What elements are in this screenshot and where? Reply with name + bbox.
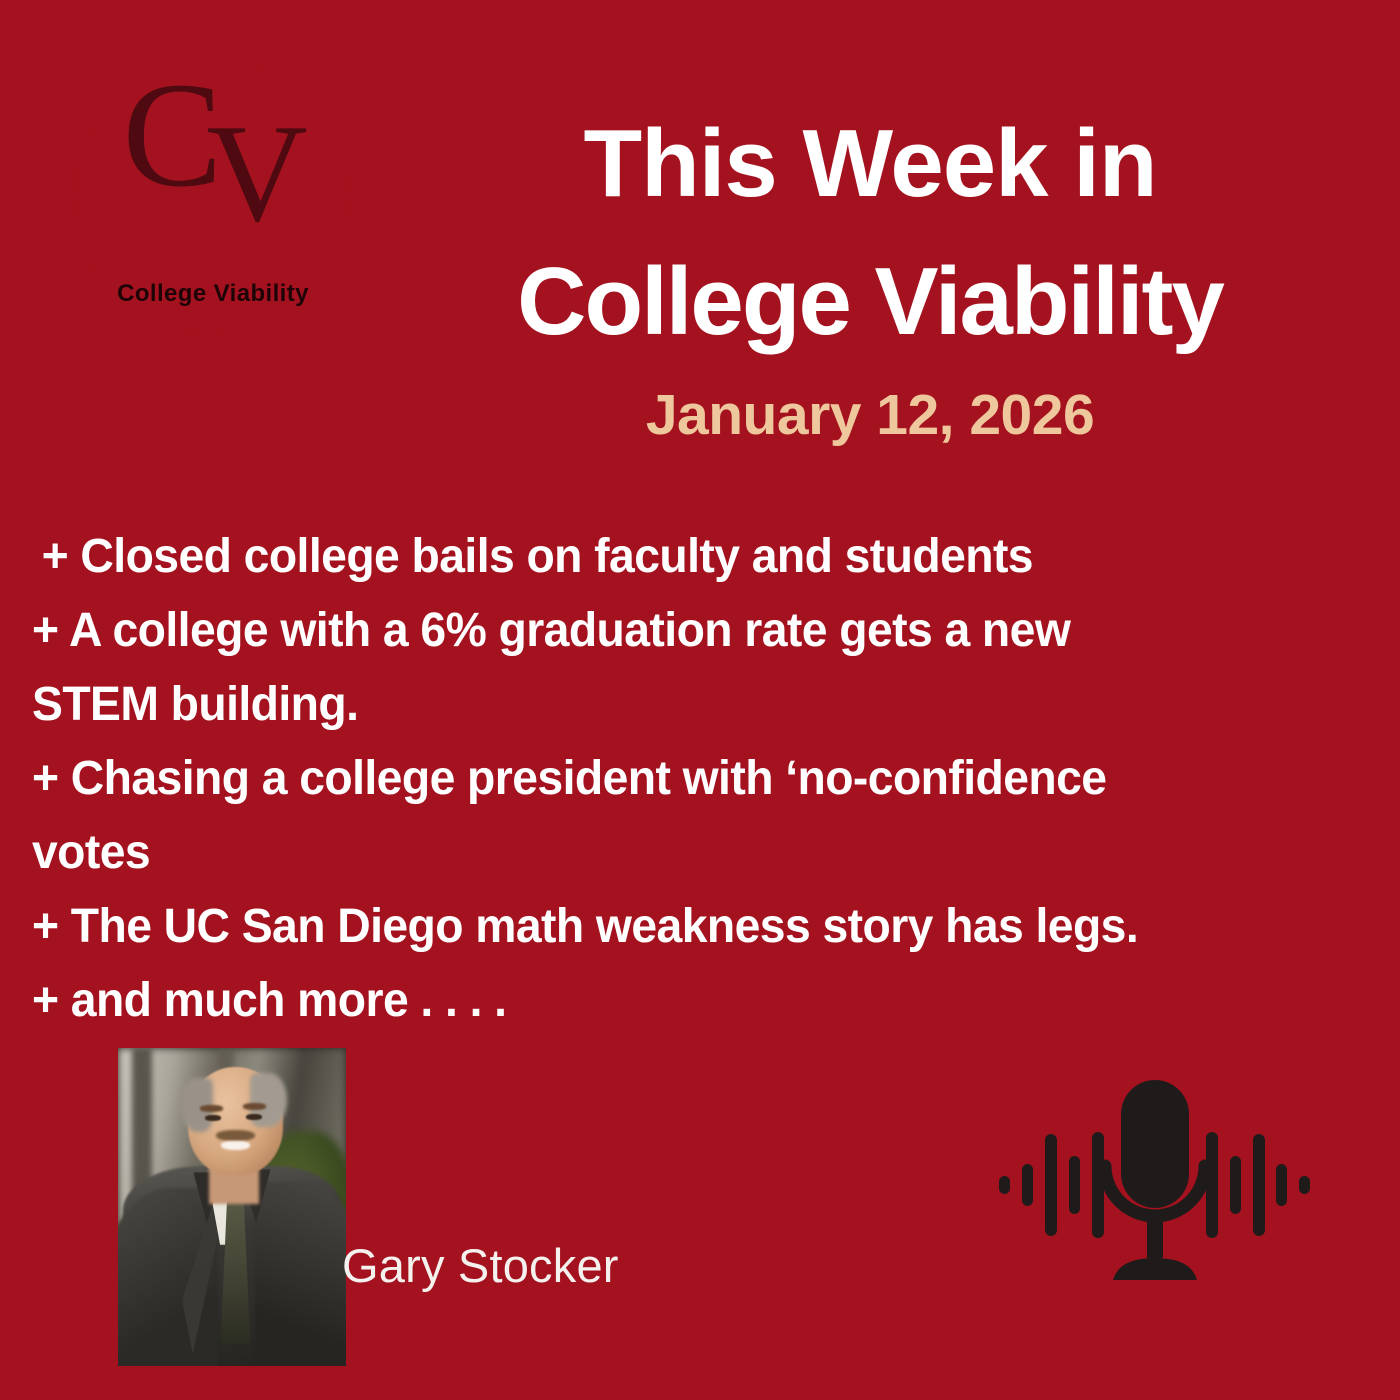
title-line-2: College Viability	[430, 233, 1310, 371]
page-title: This Week in College Viability	[430, 95, 1310, 371]
list-item: + Closed college bails on faculty and st…	[32, 520, 1321, 594]
photo-smile	[221, 1141, 251, 1149]
list-item: votes	[32, 816, 1321, 890]
list-item: + Chasing a college president with ‘no-c…	[32, 742, 1321, 816]
microphone-waveform-icon	[995, 1068, 1315, 1308]
photo-eye-right	[246, 1114, 262, 1120]
host-name: Gary Stocker	[342, 1238, 619, 1293]
microphone-glyph	[1105, 1080, 1205, 1280]
list-item: + The UC San Diego math weakness story h…	[32, 890, 1321, 964]
list-item: + and much more . . . .	[32, 964, 1321, 1038]
header: This Week in College Viability January 1…	[430, 95, 1310, 444]
podcast-cover-art: CV College Viability This Week in Colleg…	[0, 0, 1400, 1400]
episode-date: January 12, 2026	[430, 387, 1310, 444]
photo-eyebrow-right	[243, 1103, 266, 1110]
logo-letter-c: C	[122, 60, 218, 210]
photo-shoulder-right	[255, 1182, 346, 1366]
list-item: STEM building.	[32, 668, 1321, 742]
host-portrait-photo	[118, 1048, 346, 1366]
logo-monogram: CV	[48, 60, 378, 244]
photo-background-column	[132, 1048, 153, 1194]
episode-topics-list: + Closed college bails on faculty and st…	[32, 520, 1368, 1038]
title-line-1: This Week in	[430, 95, 1310, 233]
list-item: + A college with a 6% graduation rate ge…	[32, 594, 1321, 668]
photo-mustache	[216, 1130, 255, 1141]
photo-eye-left	[205, 1115, 221, 1121]
waveform-bars-left	[999, 1132, 1104, 1238]
logo-caption: College Viability	[48, 280, 378, 308]
logo-letter-v: V	[206, 104, 303, 244]
waveform-bars-right	[1206, 1132, 1310, 1238]
college-viability-logo: CV College Viability	[48, 32, 378, 362]
photo-eyebrow-left	[200, 1105, 223, 1112]
